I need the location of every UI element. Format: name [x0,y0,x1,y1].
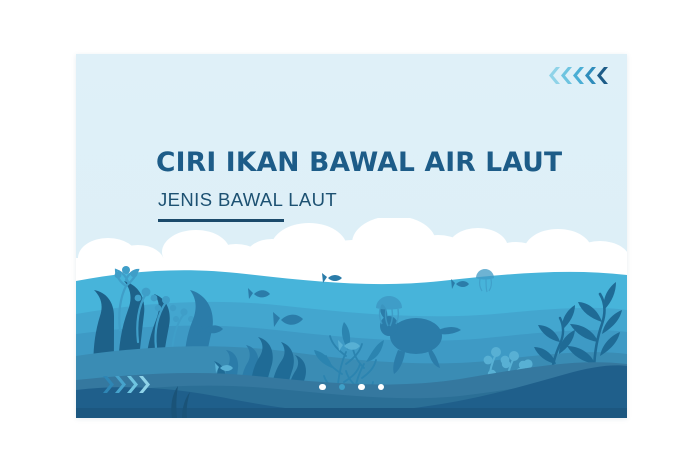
slide-card[interactable]: CIRI IKAN BAWAL AIR LAUT JENIS BAWAL LAU… [76,54,627,418]
chevron-left-icon [573,67,585,84]
pagination-dots[interactable] [76,384,627,391]
chevron-left-icon [549,67,561,84]
chevron-left-icon [561,67,573,84]
page-subtitle: JENIS BAWAL LAUT [158,190,586,210]
pagination-dot[interactable] [358,384,365,391]
chevron-left-icon [585,67,597,84]
chevron-left-icon [597,67,609,84]
top-right-chevron-group [549,67,609,84]
headline-block: CIRI IKAN BAWAL AIR LAUT JENIS BAWAL LAU… [156,148,586,222]
pagination-dot[interactable] [339,384,346,391]
page-title: CIRI IKAN BAWAL AIR LAUT [156,148,586,177]
pagination-dot[interactable] [378,384,385,391]
title-underline [158,219,284,221]
pagination-dot[interactable] [319,384,326,391]
